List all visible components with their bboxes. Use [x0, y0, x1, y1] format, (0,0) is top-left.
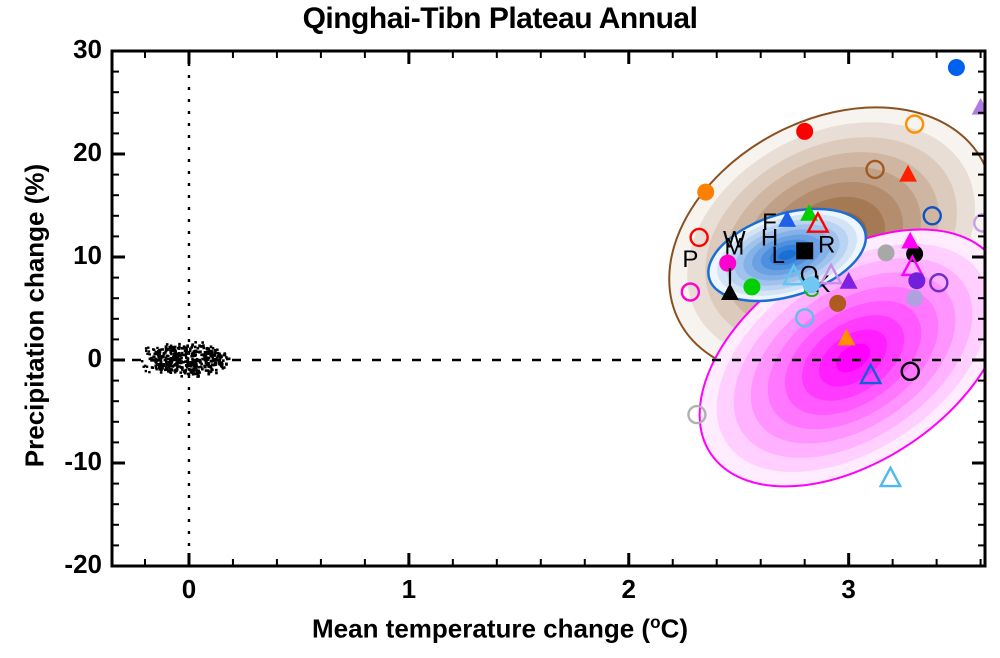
ytick-label--20: -20: [12, 549, 102, 580]
y-axis-label: Precipitation change (%): [20, 56, 51, 576]
data-point-40: [829, 295, 846, 312]
chart-root: Qinghai-Tibn Plateau Annual Precipitatio…: [0, 0, 1000, 658]
data-point-36: [803, 276, 820, 293]
data-point-0: [948, 59, 965, 76]
data-point-46: [881, 468, 901, 486]
data-point-21: [796, 242, 813, 259]
x-axis-label: Mean temperature change (oC): [0, 612, 1000, 645]
data-point-L: L: [772, 242, 785, 269]
plot-area: FHWMRLPIQKC: [112, 51, 985, 566]
ytick-label-30: 30: [12, 34, 102, 65]
data-point-6: [697, 184, 714, 201]
data-point-1: [796, 123, 813, 140]
plot-data-layer: FHWMRLPIQKC: [112, 51, 985, 566]
data-point-17: [878, 244, 895, 261]
xtick-label-2: 2: [599, 574, 659, 605]
data-point-R: R: [818, 232, 835, 259]
ytick-label-0: 0: [12, 343, 102, 374]
ytick-label-10: 10: [12, 240, 102, 271]
xtick-label-0: 0: [159, 574, 219, 605]
data-point-25: [908, 272, 925, 289]
data-point-37: [743, 278, 760, 295]
data-point-27: [906, 290, 923, 307]
ytick-label--10: -10: [12, 446, 102, 477]
xtick-label-3: 3: [819, 574, 879, 605]
chart-title: Qinghai-Tibn Plateau Annual: [0, 2, 1000, 36]
data-point-2: [972, 98, 985, 115]
xtick-label-1: 1: [379, 574, 439, 605]
ytick-label-20: 20: [12, 137, 102, 168]
data-point-P: P: [682, 246, 698, 273]
